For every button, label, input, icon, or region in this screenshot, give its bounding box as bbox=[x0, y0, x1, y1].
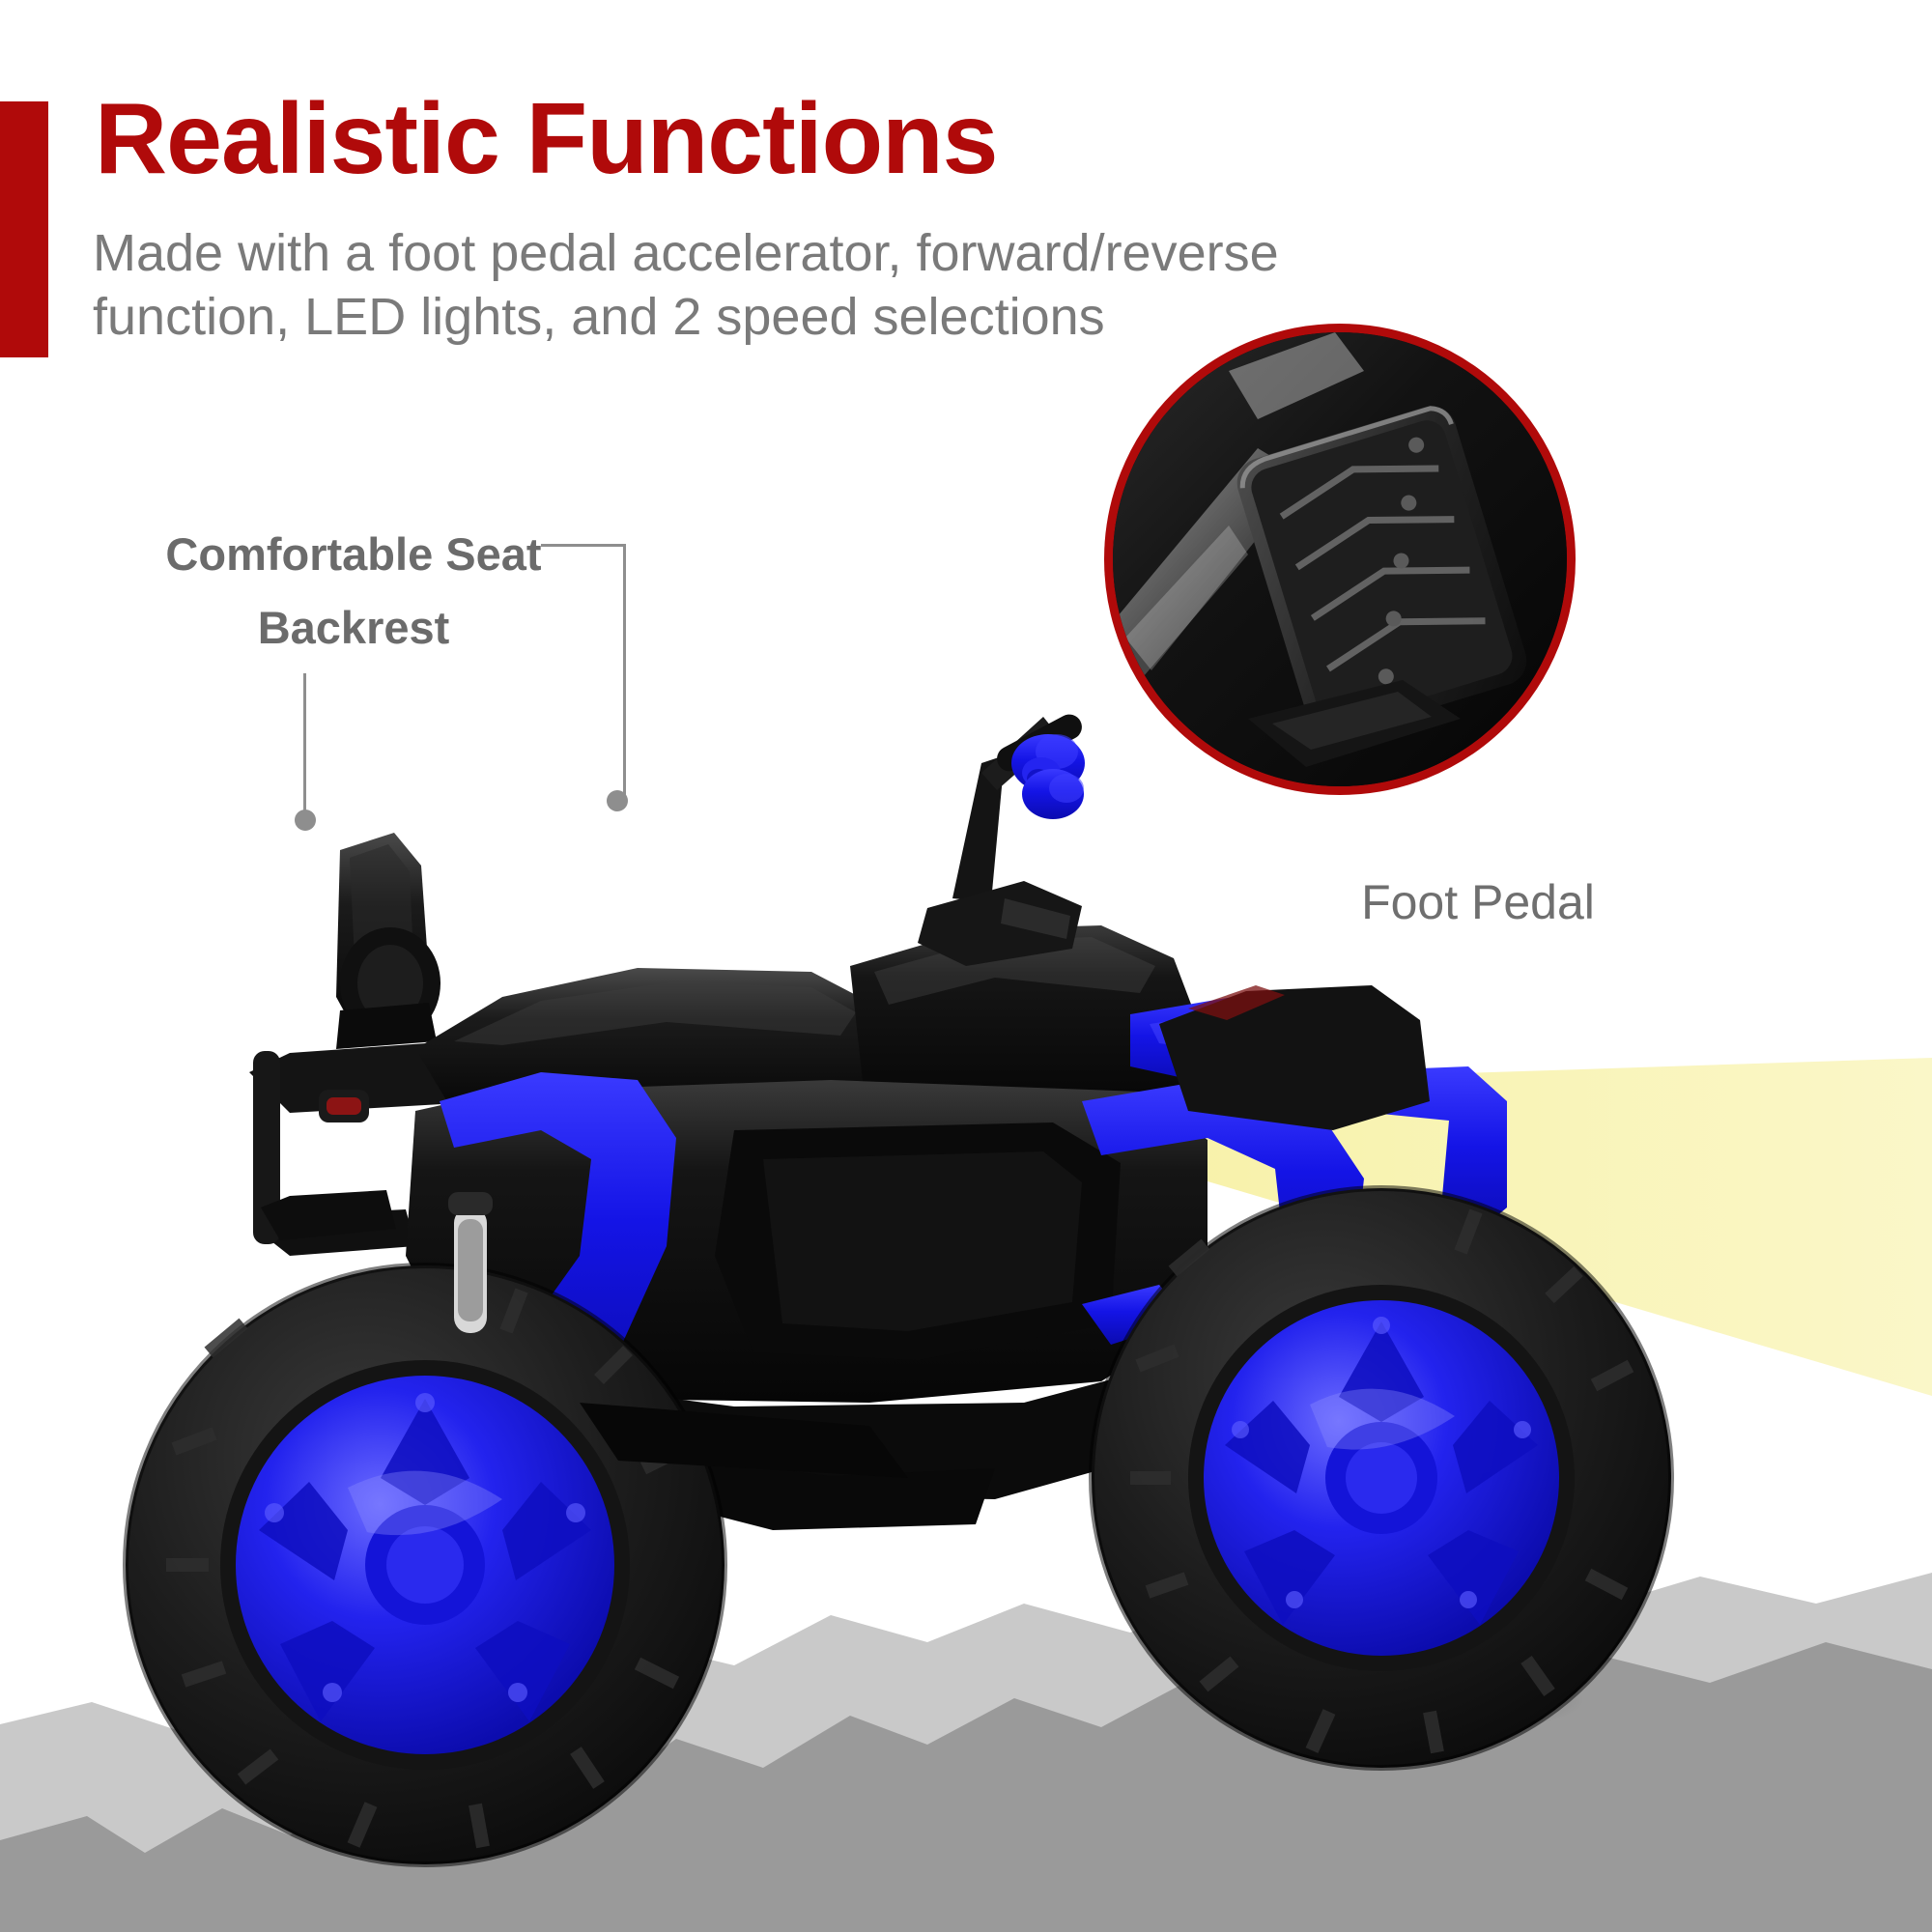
callout-dot-icon-seat bbox=[607, 790, 628, 811]
leader-line-vertical-seat bbox=[623, 544, 626, 800]
page-title: Realistic Functions bbox=[95, 87, 998, 192]
subtitle-line-2: function, LED lights, and 2 speed select… bbox=[93, 286, 1349, 350]
callout-label-seat-backrest: Comfortable Seat Backrest bbox=[93, 518, 614, 665]
callout-dot-icon-backrest bbox=[295, 810, 316, 831]
seat-backrest bbox=[336, 833, 440, 1049]
front-wheel bbox=[1092, 1188, 1671, 1768]
callout-label-foot-pedal: Foot Pedal bbox=[1207, 874, 1748, 930]
leader-line-vertical-backrest bbox=[303, 673, 306, 818]
leader-line-horizontal bbox=[541, 544, 626, 547]
foot-pedal-photo bbox=[1113, 332, 1567, 786]
front-assembly bbox=[1159, 985, 1430, 1130]
tail-light bbox=[319, 1090, 369, 1122]
handlebar bbox=[918, 710, 1086, 966]
callout-seat-line-1: Comfortable Seat bbox=[93, 518, 614, 591]
rear-wheel bbox=[126, 1265, 724, 1864]
suspension-shock bbox=[448, 1192, 493, 1333]
infographic-canvas: Realistic Functions Made with a foot ped… bbox=[0, 0, 1932, 1932]
callout-seat-line-2: Backrest bbox=[93, 591, 614, 665]
subtitle-line-1: Made with a foot pedal accelerator, forw… bbox=[93, 222, 1349, 286]
foot-pedal-photo-inset bbox=[1104, 324, 1576, 795]
page-subtitle: Made with a foot pedal accelerator, forw… bbox=[93, 222, 1349, 350]
accent-bar bbox=[0, 101, 48, 357]
